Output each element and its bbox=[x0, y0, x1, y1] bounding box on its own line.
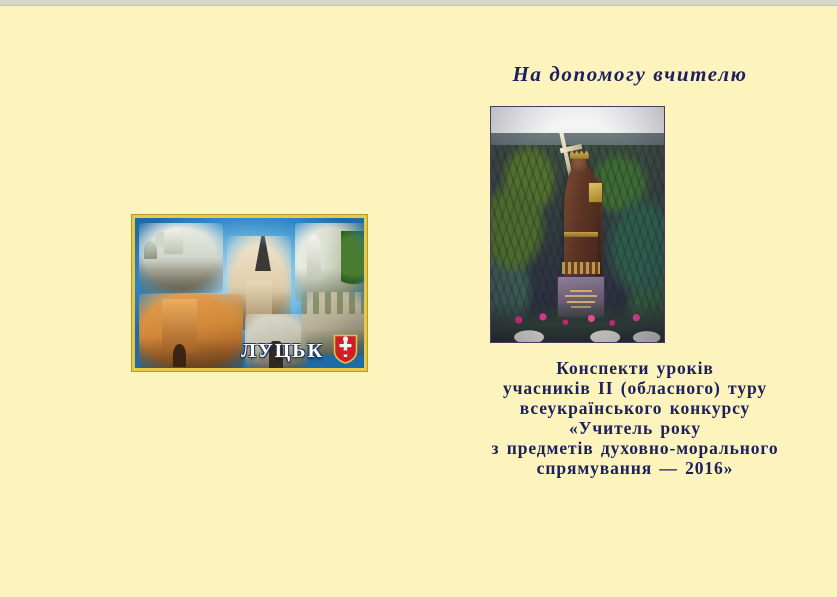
lubart-castle-tower-photo bbox=[139, 294, 243, 370]
title-line-4: «Учитель року bbox=[400, 418, 837, 438]
statue-book bbox=[588, 182, 604, 203]
publication-title: Конспекти уроків учасників ІІ (обласного… bbox=[400, 358, 837, 478]
lutsk-landmarks-postcard: ЛУЦЬК bbox=[132, 215, 367, 371]
title-line-6: спрямування — 2016» bbox=[400, 458, 837, 478]
statue-belt bbox=[564, 232, 599, 238]
lutsk-coat-of-arms-icon bbox=[333, 334, 358, 364]
title-line-1: Конспекти уроків bbox=[400, 358, 837, 378]
viewer-top-strip bbox=[0, 0, 837, 6]
postcard-background: ЛУЦЬК bbox=[135, 218, 364, 368]
title-line-2: учасників ІІ (обласного) туру bbox=[400, 378, 837, 398]
baroque-cathedral-photo bbox=[295, 223, 367, 301]
document-page: На допомогу вчителю ЛУЦЬК bbox=[0, 0, 837, 597]
postcard-city-label: ЛУЦЬК bbox=[241, 340, 324, 363]
page-header-text: На допомогу вчителю bbox=[430, 62, 830, 87]
statue-robe-hem bbox=[562, 262, 600, 274]
orthodox-cathedral-photo bbox=[139, 223, 223, 293]
photo-planters bbox=[491, 326, 664, 342]
title-line-5: з предметів духовно-морального bbox=[400, 438, 837, 458]
title-line-3: всеукраїнського конкурсу bbox=[400, 398, 837, 418]
saint-volodymyr-statue-photo bbox=[490, 106, 665, 343]
